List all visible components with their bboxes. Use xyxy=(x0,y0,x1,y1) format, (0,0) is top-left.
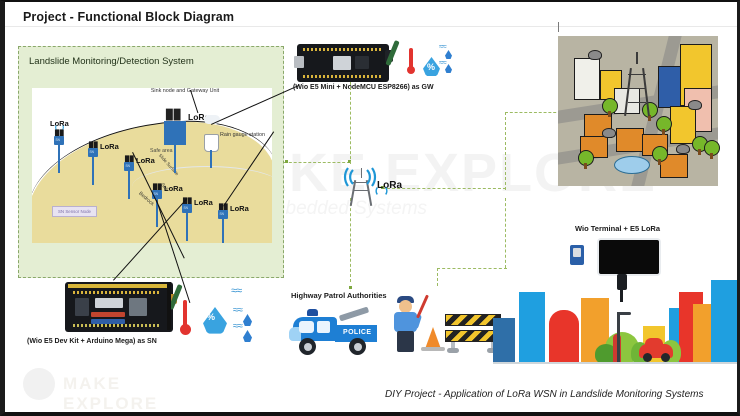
link-dot xyxy=(349,286,352,289)
pin-header-bottom xyxy=(73,324,161,327)
officer-legs xyxy=(397,331,414,352)
siren-light-icon xyxy=(307,309,318,316)
pointer-line-7 xyxy=(167,282,171,330)
tree-icon xyxy=(704,140,720,156)
lora-label: LoRa xyxy=(100,142,119,151)
water-drop-icon xyxy=(445,50,452,59)
sensor-node-caption: (Wio E5 Dev Kit + Arduino Mega) as SN xyxy=(27,338,157,345)
lora-label: LoRa xyxy=(230,204,249,213)
node-pole xyxy=(92,155,94,185)
tree-icon xyxy=(652,146,668,162)
barrier-foot-left xyxy=(447,348,459,353)
lora-wave-icon xyxy=(373,184,390,198)
water-drop-icon-2 xyxy=(243,330,252,342)
gauge-cup xyxy=(204,134,219,152)
highway-patrol-caption: Highway Patrol Authorities xyxy=(291,291,387,300)
wio-terminal-caption: Wio Terminal + E5 LoRa xyxy=(575,224,660,233)
building xyxy=(574,58,600,100)
sensor-node-legend-badge: SN Sensor Node xyxy=(52,206,97,217)
link-down-right xyxy=(505,198,506,268)
rain-gauge-caption: Rain gauge station xyxy=(220,132,266,139)
lora-wave-icon xyxy=(53,122,66,133)
landslide-scene: Slide Surface Soil Bedrock Safe area SN … xyxy=(32,88,272,243)
tree-icon xyxy=(656,116,672,132)
building xyxy=(519,292,545,364)
node-pole xyxy=(186,211,188,241)
water-level-icon: ≈≈ xyxy=(439,44,446,50)
mcu-chip xyxy=(333,56,351,70)
footer-caption: DIY Project - Application of LoRa WSN in… xyxy=(385,389,703,400)
diagram-canvas: Project - Functional Block Diagram MAKE … xyxy=(5,2,737,412)
module-block xyxy=(355,56,369,69)
landslide-system-title: Landslide Monitoring/Detection System xyxy=(29,56,194,67)
tree-icon xyxy=(602,98,618,114)
police-label: POLICE xyxy=(343,329,371,336)
yinyang-icon xyxy=(23,368,55,400)
water-level-icon-3: ≈≈ xyxy=(233,324,242,330)
board-top-strip xyxy=(68,284,170,288)
link-flat-drop xyxy=(437,268,438,286)
usb-port xyxy=(294,56,304,68)
truck-wheel-rear xyxy=(349,338,366,355)
water-level-icon-2: ≈≈ xyxy=(233,308,242,314)
red-header xyxy=(91,312,125,317)
gateway-board xyxy=(297,44,389,82)
satellite-dish-icon xyxy=(602,128,616,138)
pin-header-bottom xyxy=(303,75,381,78)
flat-city-illustration xyxy=(493,260,737,364)
pin-header-top xyxy=(303,48,381,51)
antenna-icon: ▉▉ xyxy=(166,111,181,121)
humidity-icon xyxy=(423,57,440,77)
water-drop-icon xyxy=(243,314,252,326)
gateway-caption: (Wio E5 Mini + NodeMCU ESP8266) as GW xyxy=(293,84,434,91)
water-drop-icon-2 xyxy=(445,64,452,73)
page-title: Project - Functional Block Diagram xyxy=(23,10,234,24)
truck-window xyxy=(299,321,314,333)
node-pole xyxy=(128,169,130,199)
satellite-dish-icon xyxy=(676,144,690,154)
link-dot xyxy=(285,160,288,163)
watermark-logo-text: MAKE EXPLORE xyxy=(63,374,223,414)
link-tower-up xyxy=(350,82,351,164)
humidity-icon xyxy=(203,307,227,335)
sink-node-caption: Sink node and Gateway Unit xyxy=(150,88,220,95)
lora-label: LoRa xyxy=(194,198,213,207)
satellite-dish-icon xyxy=(588,50,602,60)
module-block xyxy=(75,298,89,316)
safe-area-label: Safe area xyxy=(150,148,173,154)
street-lamp-icon xyxy=(617,312,620,364)
blue-header xyxy=(91,319,125,324)
node-pole xyxy=(58,143,60,173)
building xyxy=(493,318,515,364)
truck-window-2 xyxy=(317,321,330,333)
water-level-icon-2: ≈≈ xyxy=(439,60,446,66)
car-icon xyxy=(639,344,673,358)
shield-block xyxy=(129,298,147,316)
diagram-page: Project - Functional Block Diagram MAKE … xyxy=(0,0,740,416)
ground-line xyxy=(493,362,737,364)
header-divider xyxy=(5,26,737,27)
police-officer xyxy=(389,294,423,352)
link-to-iso-city xyxy=(505,112,561,113)
node-pole xyxy=(222,217,224,243)
building-tall xyxy=(711,280,737,364)
satellite-dish-icon xyxy=(688,100,702,110)
sink-node-box xyxy=(164,121,186,145)
gauge-pole xyxy=(210,150,212,168)
sink-node-pole xyxy=(174,145,176,173)
building xyxy=(670,106,696,144)
link-tower-down xyxy=(350,198,351,282)
tow-boom xyxy=(339,307,369,322)
sensor-node-board xyxy=(65,282,173,332)
tree-icon xyxy=(578,150,594,166)
fountain-icon xyxy=(614,156,650,174)
building-arch xyxy=(549,310,579,364)
lora-label: LoRa xyxy=(164,184,183,193)
traffic-cone-base xyxy=(421,347,445,351)
link-city-up xyxy=(505,112,506,190)
mcu-chip xyxy=(95,298,123,308)
cell-tower-icon xyxy=(624,58,650,116)
watermark-logo: MAKE EXPLORE xyxy=(23,368,223,402)
isometric-city-illustration xyxy=(558,36,718,186)
truck-wheel-front xyxy=(299,338,316,355)
pin-header-top xyxy=(73,291,161,294)
traffic-cone-icon xyxy=(425,327,441,349)
header-tick-mark xyxy=(558,22,559,32)
police-truck: POLICE xyxy=(289,305,381,355)
house xyxy=(616,128,644,152)
water-level-icon: ≈≈ xyxy=(231,288,241,294)
